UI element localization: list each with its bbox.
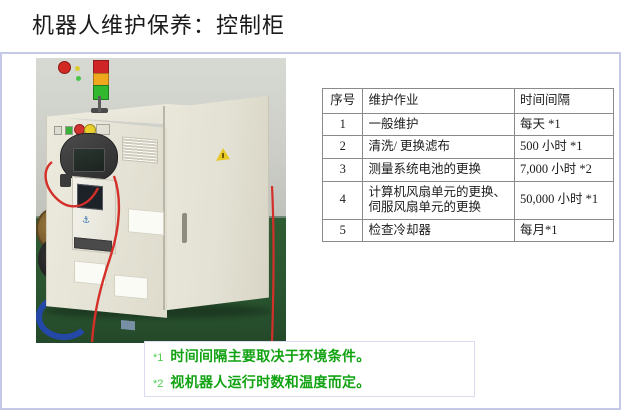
cell-task: 一般维护 <box>363 113 515 136</box>
control-cabinet-photo: ⚓ <box>36 58 286 343</box>
cell-interval: 每月*1 <box>515 219 614 242</box>
cell-interval: 7,000 小时 *2 <box>515 158 614 181</box>
table-row: 5 检查冷却器 每月*1 <box>323 219 614 242</box>
table-row: 4 计算机风扇单元的更换、伺服风扇单元的更换 50,000 小时 *1 <box>323 181 614 219</box>
footnote-1: *1 时间间隔主要取决于环境条件。 <box>153 346 468 372</box>
footnote-1-text: 时间间隔主要取决于环境条件。 <box>170 346 370 366</box>
cell-task: 计算机风扇单元的更换、伺服风扇单元的更换 <box>363 181 515 219</box>
cell-task: 测量系统电池的更换 <box>363 158 515 181</box>
table-header-row: 序号 维护作业 时间间隔 <box>323 89 614 114</box>
red-cable <box>36 58 286 343</box>
cell-no: 5 <box>323 219 363 242</box>
cell-task: 清洗/ 更换滤布 <box>363 136 515 159</box>
cell-interval: 500 小时 *1 <box>515 136 614 159</box>
cell-no: 3 <box>323 158 363 181</box>
footnote-1-marker: *1 <box>153 352 163 364</box>
cell-no: 2 <box>323 136 363 159</box>
cell-interval: 每天 *1 <box>515 113 614 136</box>
maintenance-table: 序号 维护作业 时间间隔 1 一般维护 每天 *1 2 清洗/ 更换滤布 500… <box>322 88 614 242</box>
table-header-no: 序号 <box>323 89 363 114</box>
page-title: 机器人维护保养：控制柜 <box>32 8 285 40</box>
cell-task: 检查冷却器 <box>363 219 515 242</box>
table-row: 2 清洗/ 更换滤布 500 小时 *1 <box>323 136 614 159</box>
footnote-2: *2 视机器人运行时数和温度而定。 <box>153 372 468 398</box>
table-row: 3 测量系统电池的更换 7,000 小时 *2 <box>323 158 614 181</box>
cell-no: 4 <box>323 181 363 219</box>
table-row: 1 一般维护 每天 *1 <box>323 113 614 136</box>
slide: 机器人维护保养：控制柜 <box>0 0 633 419</box>
cell-interval: 50,000 小时 *1 <box>515 181 614 219</box>
footnotes-box: *1 时间间隔主要取决于环境条件。 *2 视机器人运行时数和温度而定。 <box>144 341 475 397</box>
footnote-2-marker: *2 <box>153 378 163 390</box>
cell-no: 1 <box>323 113 363 136</box>
table-header-task: 维护作业 <box>363 89 515 114</box>
table-header-interval: 时间间隔 <box>515 89 614 114</box>
footnote-2-text: 视机器人运行时数和温度而定。 <box>170 372 370 392</box>
